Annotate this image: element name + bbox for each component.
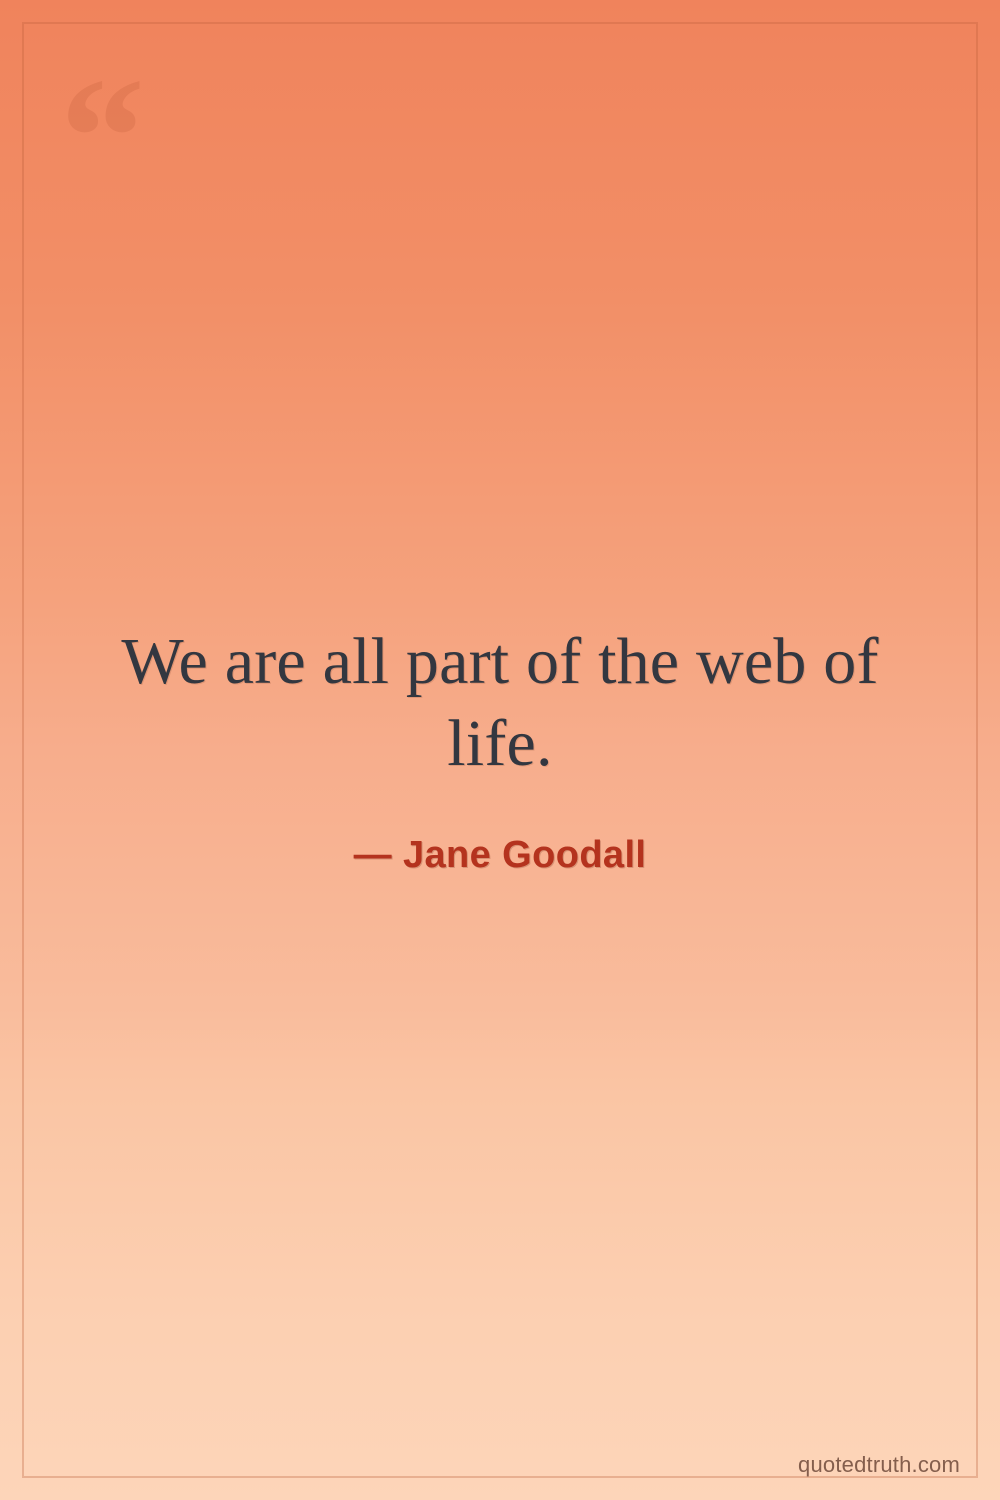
quote-attribution: — Jane Goodall — [105, 833, 895, 879]
quote-content-block: We are all part of the web of life. — Ja… — [0, 0, 1000, 1500]
site-watermark: quotedtruth.com — [798, 1452, 960, 1478]
quote-card: “ We are all part of the web of life. — … — [0, 0, 1000, 1500]
quote-text: We are all part of the web of life. — [105, 621, 895, 785]
